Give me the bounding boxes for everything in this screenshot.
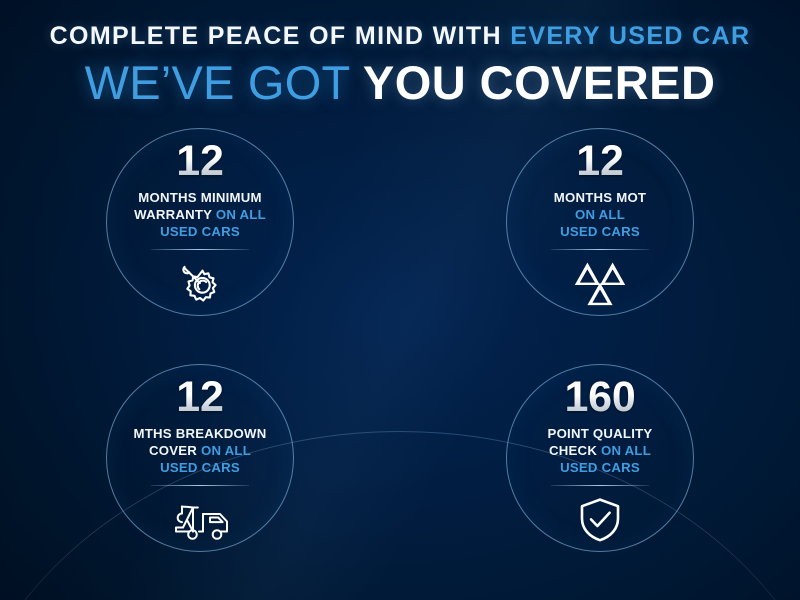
tow-truck-icon (167, 494, 233, 546)
caption-line-3-blue: USED CARS (560, 224, 640, 239)
caption-line-2-white: CHECK (549, 443, 601, 458)
badge-caption: POINT QUALITY CHECK ON ALL USED CARS (514, 426, 686, 477)
caption-line-3-blue: USED CARS (160, 460, 240, 475)
caption-line-3-blue: USED CARS (560, 460, 640, 475)
caption-line-2-blue: ON ALL (216, 207, 266, 222)
badge-number: 12 (176, 140, 223, 183)
badge-number: 12 (176, 376, 223, 419)
badge-divider (151, 485, 249, 486)
caption-line-1: POINT QUALITY (548, 426, 653, 441)
badge-number: 12 (576, 140, 623, 183)
badge-caption: MONTHS MINIMUM WARRANTY ON ALL USED CARS (114, 190, 286, 241)
caption-line-2-blue: ON ALL (201, 443, 251, 458)
caption-line-2-white: COVER (149, 443, 201, 458)
badge-number: 160 (564, 376, 635, 419)
gear-wrench-icon (167, 258, 233, 310)
caption-line-1: MONTHS MINIMUM (138, 190, 261, 205)
shield-check-icon (567, 494, 633, 546)
badge-divider (551, 485, 649, 486)
badge-breakdown: 12 MTHS BREAKDOWN COVER ON ALL USED CARS (106, 364, 294, 552)
headline-line1-white: COMPLETE PEACE OF MIND WITH (50, 22, 511, 50)
caption-line-1: MONTHS MOT (554, 190, 646, 205)
caption-line-2-white: WARRANTY (134, 207, 216, 222)
badge-divider (551, 249, 649, 250)
headline-block: COMPLETE PEACE OF MIND WITH EVERY USED C… (0, 22, 800, 108)
badge-caption: MONTHS MOT ON ALL USED CARS (514, 190, 686, 241)
headline-line-1: COMPLETE PEACE OF MIND WITH EVERY USED C… (0, 22, 800, 50)
headline-line2-white: YOU COVERED (363, 56, 716, 109)
headline-line-2: WE’VE GOT YOU COVERED (0, 58, 800, 108)
caption-line-1: MTHS BREAKDOWN (134, 426, 267, 441)
badge-quality-check: 160 POINT QUALITY CHECK ON ALL USED CARS (506, 364, 694, 552)
badge-caption: MTHS BREAKDOWN COVER ON ALL USED CARS (114, 426, 286, 477)
caption-line-2-blue: ON ALL (601, 443, 651, 458)
badge-warranty: 12 MONTHS MINIMUM WARRANTY ON ALL USED C… (106, 128, 294, 316)
badge-divider (151, 249, 249, 250)
badge-mot: 12 MONTHS MOT ON ALL USED CARS (506, 128, 694, 316)
headline-line1-blue: EVERY USED CAR (510, 22, 750, 50)
caption-line-3-blue: USED CARS (160, 224, 240, 239)
caption-line-2-blue: ON ALL (575, 207, 625, 222)
headline-line2-blue: WE’VE GOT (85, 56, 363, 109)
badge-grid: 12 MONTHS MINIMUM WARRANTY ON ALL USED C… (0, 128, 800, 588)
promo-banner: COMPLETE PEACE OF MIND WITH EVERY USED C… (0, 0, 800, 600)
mot-triangles-icon (567, 258, 633, 310)
